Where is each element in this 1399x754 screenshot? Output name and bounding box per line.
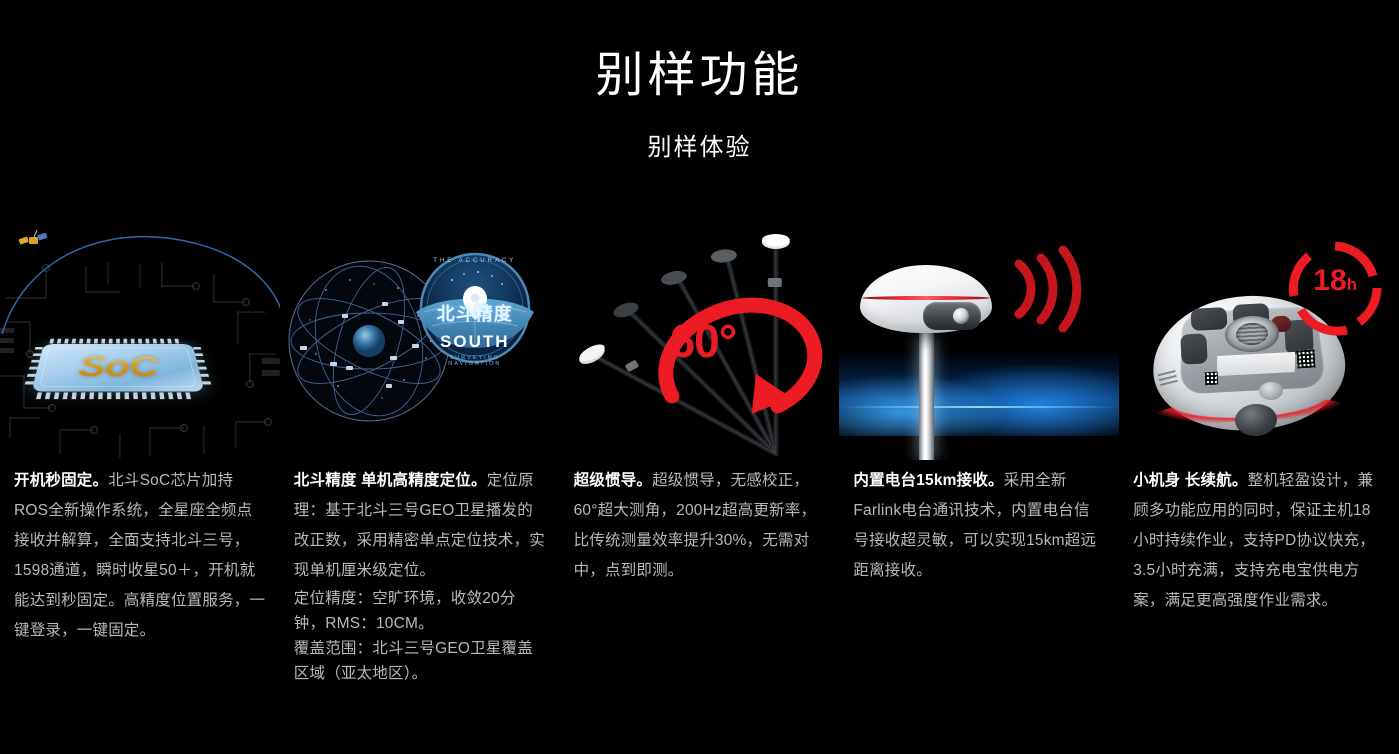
feature-columns: SoC 开机秒固定。北斗SoC芯片加持ROS全新操作系统，全星座全频点接收并解算… [0,222,1399,754]
radio-waves-icon [999,240,1099,340]
feature-column-long-battery: 18h 小机身 长续航。整机轻盈设计，兼顾多功能应用的同时，保证主机18小时持续… [1119,222,1399,616]
caption-lead: 小机身 长续航。 [1133,472,1247,489]
caption-lead: 开机秒固定。 [14,472,108,489]
caption-lead: 北斗精度 单机高精度定位。 [294,472,487,489]
page-title: 别样功能 [0,48,1399,103]
battery-life-value: 18h [1287,264,1383,298]
device-spec-label [1217,352,1295,376]
caption-extra-accuracy: 定位精度：空旷环境，收敛20分钟，RMS：10CM。 [294,586,546,636]
horizon-line [839,406,1119,408]
caption-built-in-radio: 内置电台15km接收。采用全新Farlink电台通讯技术，内置电台信号接收超灵敏… [839,460,1119,586]
soc-chip-label: SoC [48,351,187,383]
soc-chip-illustration: SoC [0,222,280,460]
angle-label: 60° [670,314,737,368]
qr-code-icon [1297,350,1316,369]
caption-body: 北斗SoC芯片加持ROS全新操作系统，全星座全频点接收并解算，全面支持北斗三号，… [14,472,265,639]
tilt-survey-pole-illustration: 60° [560,222,840,460]
feature-showcase-page: 别样功能 别样体验 [0,0,1399,754]
rubber-pad [1191,307,1228,331]
badge-bottom-arc-text: SURVEYING NAVIGATION [426,355,524,367]
receiver-camera-module [923,302,981,330]
receiver-base-battery-illustration: 18h [1119,222,1399,460]
badge-brand-text: SOUTH [416,332,534,352]
feature-column-beidou-accuracy: THE ACCURACY 北斗精度 SOUTH SURVEYING NAVIGA… [280,222,560,686]
badge-top-arc-text: THE ACCURACY [426,258,524,264]
badge-title-text: 北斗精度 [416,300,534,326]
battery-unit: h [1347,275,1357,294]
bottom-camera-lens [1234,403,1278,437]
page-subtitle: 别样体验 [0,127,1399,162]
feature-column-soc: SoC 开机秒固定。北斗SoC芯片加持ROS全新操作系统，全星座全频点接收并解算… [0,222,280,646]
caption-beidou-accuracy: 北斗精度 单机高精度定位。定位原理：基于北斗三号GEO卫星播发的改正数，采用精密… [280,460,560,686]
qr-code-icon [1205,372,1219,386]
battery-hours: 18 [1313,264,1346,297]
receiver-red-band [862,296,990,300]
caption-body: 整机轻盈设计，兼顾多功能应用的同时，保证主机18小时持续作业，支持PD协议快充，… [1133,472,1375,609]
gnss-receiver-radio-illustration [839,222,1119,460]
beidou-constellation-badge: THE ACCURACY 北斗精度 SOUTH SURVEYING NAVIGA… [280,222,560,460]
rubber-pad [1180,333,1208,364]
caption-soc: 开机秒固定。北斗SoC芯片加持ROS全新操作系统，全星座全频点接收并解算，全面支… [0,460,280,646]
caption-super-imu: 超级惯导。超级惯导，无感校正，60°超大测角，200Hz超高更新率，比传统测量效… [560,460,840,586]
receiver-pole [919,332,934,460]
caption-lead: 内置电台15km接收。 [853,472,1003,489]
feature-column-super-imu: 60° 超级惯导。超级惯导，无感校正，60°超大测角，200Hz超高更新率，比传… [560,222,840,586]
page-header: 别样功能 别样体验 [0,0,1399,162]
blue-wave-terrain [839,350,1119,436]
feature-column-built-in-radio: 内置电台15km接收。采用全新Farlink电台通讯技术，内置电台信号接收超灵敏… [839,222,1119,586]
caption-extra-coverage: 覆盖范围：北斗三号GEO卫星覆盖区域（亚太地区）。 [294,636,546,686]
caption-lead: 超级惯导。 [574,472,653,489]
caption-long-battery: 小机身 长续航。整机轻盈设计，兼顾多功能应用的同时，保证主机18小时持续作业，支… [1119,460,1399,616]
